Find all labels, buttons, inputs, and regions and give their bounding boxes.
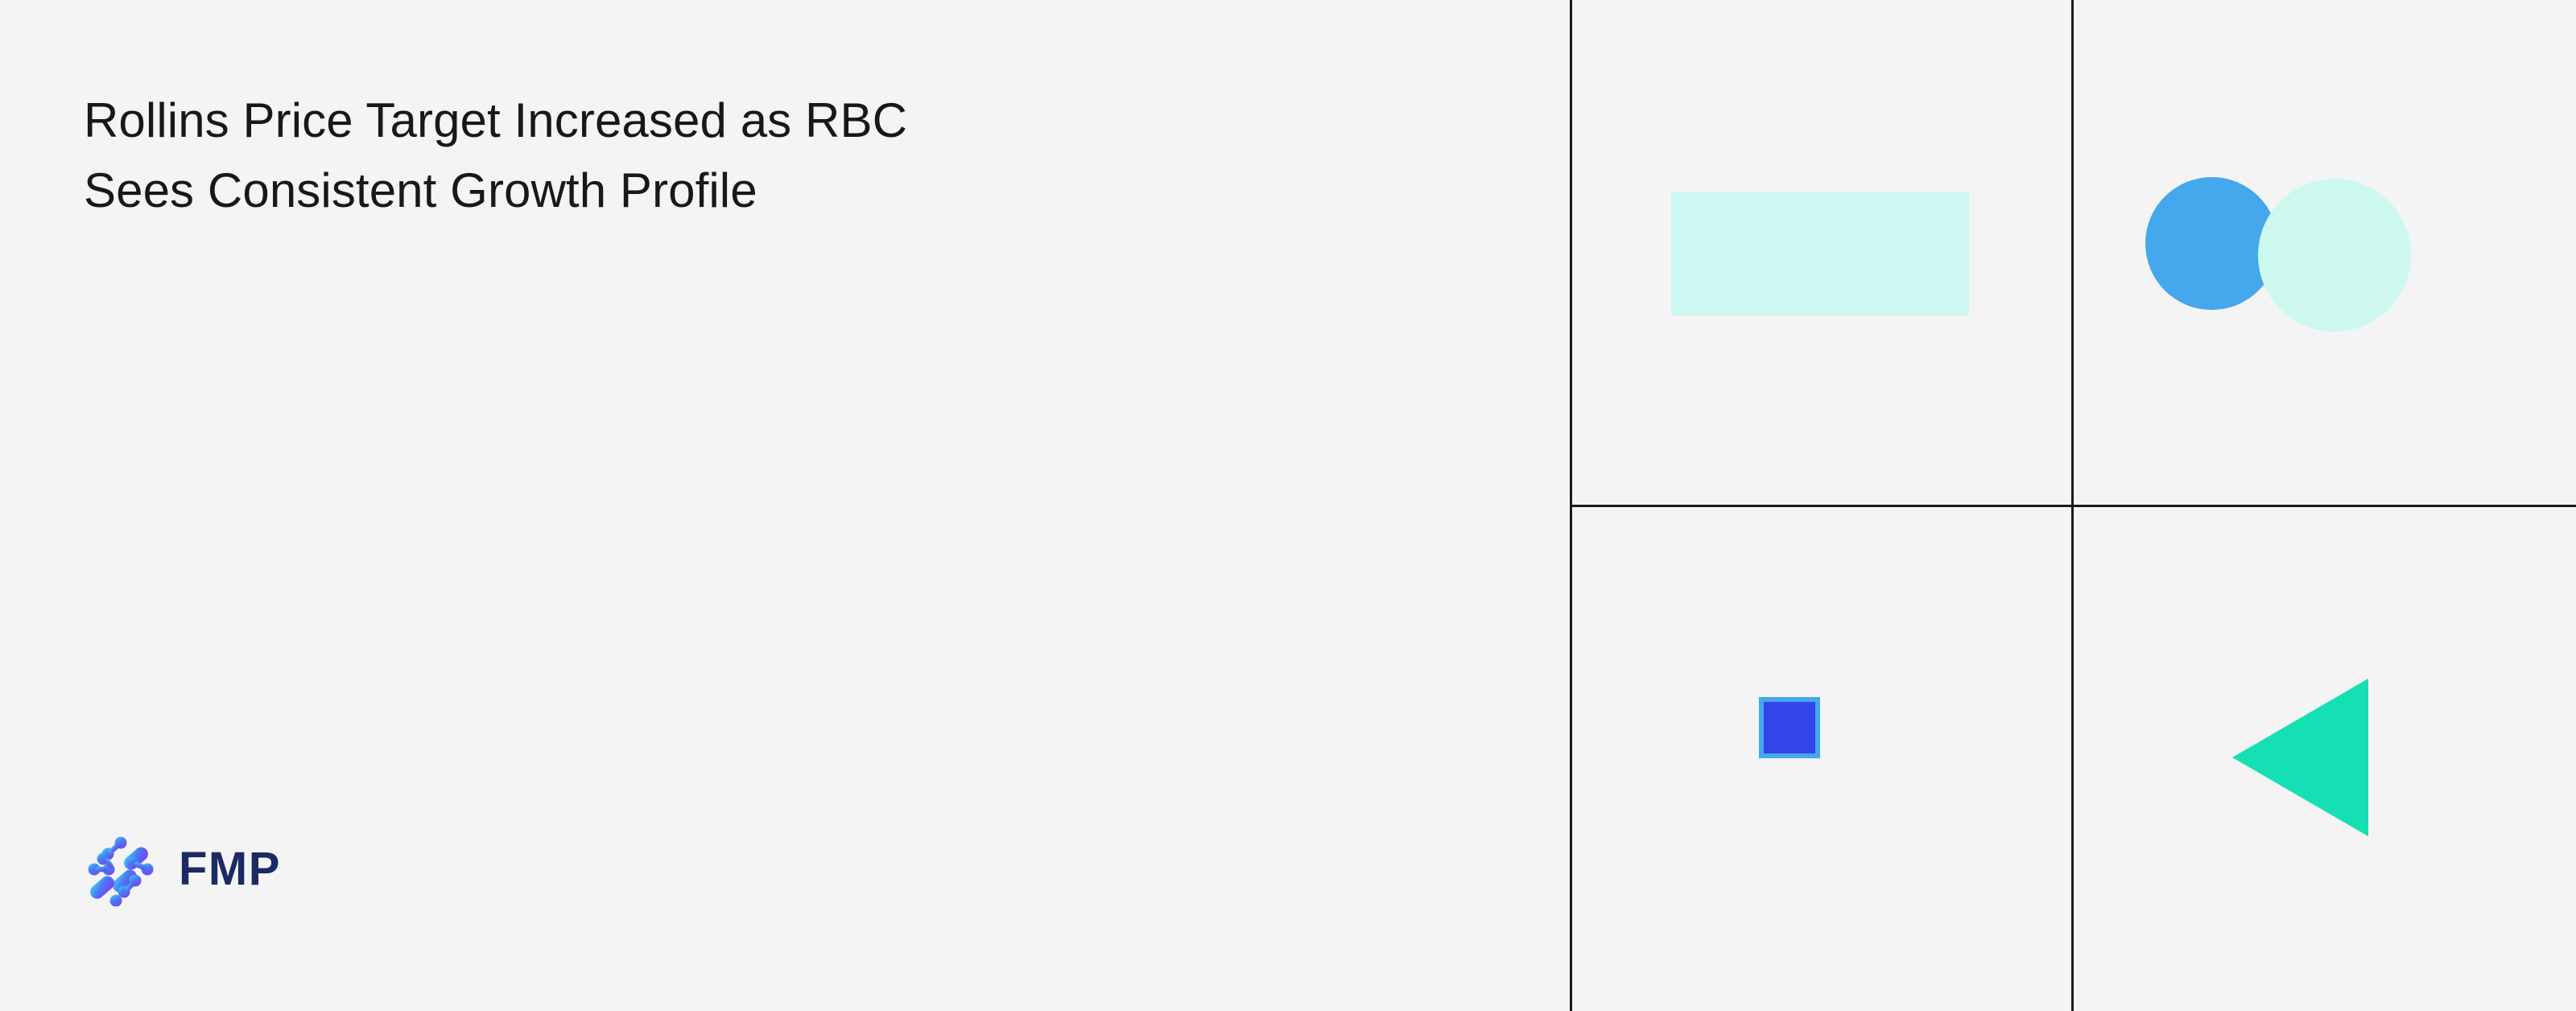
- fmp-diamond-network-logo-icon: [84, 832, 158, 906]
- mint-circle-shape: [2258, 179, 2411, 332]
- fmp-logo[interactable]: FMP: [84, 831, 281, 908]
- news-card: Rollins Price Target Increased as RBC Se…: [0, 0, 2576, 1011]
- grid-cell-top-right: [2074, 0, 2576, 505]
- left-content-panel: Rollins Price Target Increased as RBC Se…: [0, 0, 1570, 1011]
- green-triangle-shape: [2232, 679, 2368, 836]
- page-title: Rollins Price Target Increased as RBC Se…: [84, 85, 1452, 225]
- grid-cell-top-left: [1570, 0, 2071, 505]
- decorative-shape-grid: [1570, 0, 2576, 1011]
- fmp-wordmark: FMP: [179, 846, 281, 893]
- blue-square-shape: [1759, 697, 1820, 758]
- grid-cell-bottom-right: [2074, 507, 2576, 1011]
- mint-rectangle-shape: [1671, 192, 1969, 316]
- grid-cell-bottom-left: [1570, 507, 2071, 1011]
